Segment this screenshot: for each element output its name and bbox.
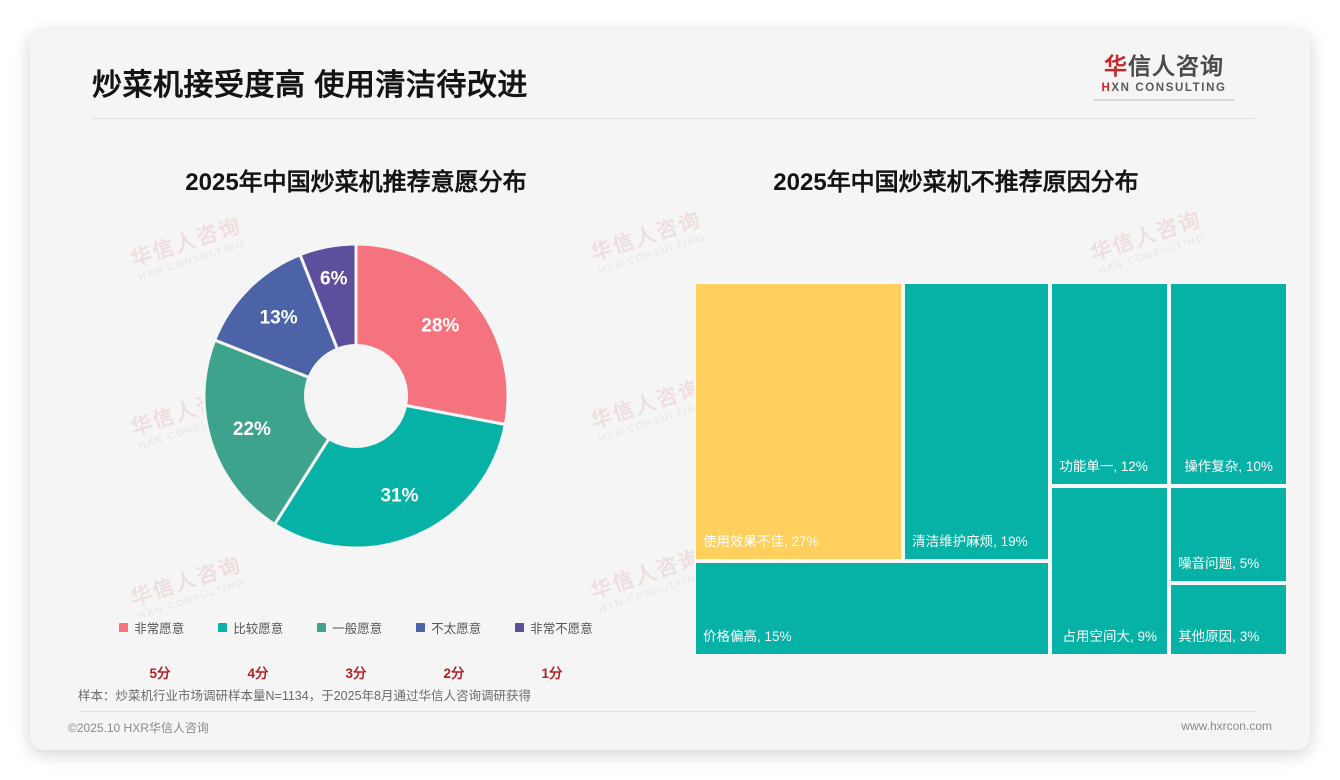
- legend-label: 不太愿意: [431, 618, 481, 637]
- logo-underline: [1094, 99, 1234, 101]
- score-label-5: 1分: [532, 662, 572, 682]
- legend-swatch-icon: [317, 623, 326, 632]
- treemap-cell-5[interactable]: 操作复杂, 10%: [1169, 282, 1288, 486]
- treemap-cell-8[interactable]: 其他原因, 3%: [1169, 583, 1288, 656]
- legend-label: 比较愿意: [233, 618, 283, 637]
- legend-label: 非常不愿意: [530, 618, 593, 637]
- logo-en-accent: H: [1101, 82, 1111, 94]
- right-chart-title: 2025年中国炒菜机不推荐原因分布: [656, 162, 1256, 197]
- legend-item-3[interactable]: 一般愿意: [317, 618, 382, 637]
- donut-chart-svg: 28%31%22%13%6%: [196, 236, 516, 556]
- treemap-cell-label: 清洁维护麻烦, 19%: [905, 534, 1048, 559]
- treemap-cell-label: 使用效果不佳, 27%: [696, 534, 901, 559]
- score-label-3: 3分: [336, 662, 376, 682]
- recommendation-willingness-panel: 2025年中国炒菜机推荐意愿分布 28%31%22%13%6% 非常愿意比较愿意…: [66, 130, 646, 690]
- treemap-cell-1[interactable]: 使用效果不佳, 27%: [694, 282, 903, 561]
- slide-card: 炒菜机接受度高 使用清洁待改进 华信人咨询 HXN CONSULTING 华信人…: [30, 30, 1310, 750]
- footnote-divider: [78, 711, 1258, 712]
- legend-swatch-icon: [218, 623, 227, 632]
- slide-footer: ©2025.10 HXR华信人咨询 www.hxrcon.com: [30, 719, 1310, 736]
- copyright-text: ©2025.10 HXR华信人咨询: [68, 719, 209, 736]
- legend-label: 一般愿意: [332, 618, 382, 637]
- treemap-cell-label: 占用空间大, 9%: [1052, 629, 1167, 654]
- footnote-block: 样本：炒菜机行业市场调研样本量N=1134，于2025年8月通过华信人咨询调研获…: [78, 685, 1258, 712]
- legend-swatch-icon: [119, 623, 128, 632]
- logo-accent-char: 华: [1104, 53, 1128, 79]
- score-label-4: 2分: [434, 662, 474, 682]
- donut-legend: 非常愿意比较愿意一般愿意不太愿意非常不愿意: [66, 618, 646, 637]
- logo-en-rest: XN CONSULTING: [1111, 82, 1226, 94]
- treemap-cell-4[interactable]: 功能单一, 12%: [1050, 282, 1169, 486]
- treemap-cell-2[interactable]: 清洁维护麻烦, 19%: [903, 282, 1050, 561]
- treemap-cell-label: 价格偏高, 15%: [696, 629, 1048, 654]
- donut-slice-label: 6%: [320, 269, 348, 290]
- non-recommendation-reason-panel: 2025年中国炒菜机不推荐原因分布 使用效果不佳, 27%清洁维护麻烦, 19%…: [656, 130, 1256, 690]
- logo-rest-chars: 信人咨询: [1128, 53, 1224, 79]
- legend-item-4[interactable]: 不太愿意: [416, 618, 481, 637]
- website-url: www.hxrcon.com: [1181, 719, 1272, 736]
- treemap-cell-label: 其他原因, 3%: [1171, 629, 1286, 654]
- company-logo: 华信人咨询 HXN CONSULTING: [1084, 54, 1244, 101]
- donut-hole: [304, 344, 408, 448]
- donut-slice-label: 22%: [233, 419, 271, 440]
- score-scale-row: 5分4分3分2分1分: [66, 662, 646, 682]
- legend-item-1[interactable]: 非常愿意: [119, 618, 184, 637]
- treemap-cell-label: 功能单一, 12%: [1052, 459, 1167, 484]
- left-chart-title: 2025年中国炒菜机推荐意愿分布: [66, 162, 646, 197]
- page-title: 炒菜机接受度高 使用清洁待改进: [92, 60, 528, 104]
- legend-label: 非常愿意: [134, 618, 184, 637]
- treemap-cell-label: 噪音问题, 5%: [1171, 556, 1286, 581]
- legend-item-2[interactable]: 比较愿意: [218, 618, 283, 637]
- logo-english-text: HXN CONSULTING: [1084, 82, 1244, 94]
- slide-header: 炒菜机接受度高 使用清洁待改进 华信人咨询 HXN CONSULTING: [30, 30, 1310, 122]
- legend-swatch-icon: [416, 623, 425, 632]
- logo-chinese-text: 华信人咨询: [1084, 54, 1244, 79]
- donut-slice-label: 31%: [380, 485, 418, 506]
- legend-swatch-icon: [515, 623, 524, 632]
- treemap-cell-6[interactable]: 占用空间大, 9%: [1050, 486, 1169, 656]
- treemap-cell-7[interactable]: 噪音问题, 5%: [1169, 486, 1288, 583]
- donut-chart: 28%31%22%13%6%: [196, 236, 516, 556]
- treemap-cell-label: 操作复杂, 10%: [1171, 459, 1286, 484]
- treemap-cell-3[interactable]: 价格偏高, 15%: [694, 561, 1050, 656]
- treemap-chart: 使用效果不佳, 27%清洁维护麻烦, 19%价格偏高, 15%功能单一, 12%…: [694, 282, 1288, 656]
- score-label-2: 4分: [238, 662, 278, 682]
- donut-slice-label: 13%: [260, 308, 298, 329]
- sample-note: 样本：炒菜机行业市场调研样本量N=1134，于2025年8月通过华信人咨询调研获…: [78, 685, 1258, 711]
- legend-item-5[interactable]: 非常不愿意: [515, 618, 593, 637]
- donut-slice-label: 28%: [421, 315, 459, 336]
- score-label-1: 5分: [140, 662, 180, 682]
- header-divider: [92, 118, 1254, 119]
